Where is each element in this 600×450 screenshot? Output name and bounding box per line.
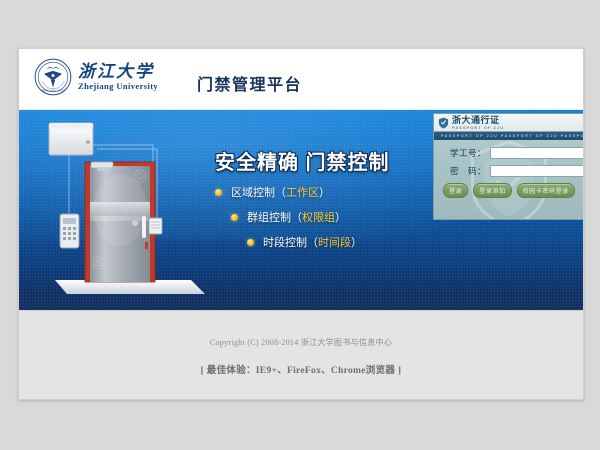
login-button-row: 登录 登录添加 校园卡密码登录 (442, 183, 576, 198)
password-row: 密 码： (442, 165, 576, 177)
logo-text-cn: 浙江大学 (78, 63, 158, 80)
login-form: 学工号： 密 码： 登录 登录添加 校园卡密码登录 (434, 140, 583, 198)
bullet-icon (215, 189, 222, 196)
login-add-button[interactable]: 登录添加 (473, 183, 511, 198)
staff-id-label: 学工号： (442, 147, 490, 159)
staff-id-row: 学工号： (442, 147, 576, 159)
page-title: 门禁管理平台 (197, 71, 302, 95)
feature-text: 区域控制（ (231, 184, 286, 200)
feature-item-area: 区域控制（ 工作区 ） (215, 184, 415, 200)
page-card: ZHEJIANG UNIV 浙江大学 Zhejiang University 门… (18, 48, 584, 400)
footer-browser-note: [ 最佳体验：IE9+、FireFox、Chrome浏览器 ] (19, 348, 583, 376)
hero-banner: 安全精确 门禁控制 区域控制（ 工作区 ） 群组控制（ 权限组 ） 时段控制（ … (19, 110, 583, 310)
svg-text:ZHEJIANG UNIV: ZHEJIANG UNIV (41, 88, 66, 92)
login-panel-title-cn: 浙大通行证 (452, 116, 504, 125)
staff-id-field[interactable] (490, 147, 583, 159)
access-control-door-illustration (41, 118, 221, 303)
banner-copy: 安全精确 门禁控制 区域控制（ 工作区 ） 群组控制（ 权限组 ） 时段控制（ … (215, 146, 415, 250)
feature-tail: ） (319, 184, 330, 200)
feature-tail: ） (351, 234, 362, 250)
feature-accent: 时间段 (318, 234, 351, 250)
shield-icon (438, 117, 449, 129)
bullet-icon (231, 214, 238, 221)
feature-item-timeslot: 时段控制（ 时间段 ） (215, 234, 415, 250)
feature-text: 群组控制（ (247, 209, 302, 225)
card-reader (149, 218, 162, 234)
login-panel-titlebar: 浙大通行证 PASSPORT OF ZJU (434, 114, 583, 132)
site-logo[interactable]: ZHEJIANG UNIV 浙江大学 Zhejiang University (34, 58, 158, 96)
site-header: ZHEJIANG UNIV 浙江大学 Zhejiang University 门… (19, 49, 583, 110)
banner-heading: 安全精确 门禁控制 (215, 146, 415, 175)
password-label: 密 码： (442, 165, 490, 177)
feature-accent: 权限组 (302, 209, 335, 225)
controller-box (49, 123, 93, 155)
feature-item-group: 群组控制（ 权限组 ） (215, 209, 415, 225)
logo-text-en: Zhejiang University (78, 82, 158, 91)
login-panel: 浙大通行证 PASSPORT OF ZJU PASSPORT OF ZJU PA… (433, 113, 583, 220)
login-button[interactable]: 登录 (443, 183, 468, 198)
passport-strip-text: PASSPORT OF ZJU PASSPORT OF ZJU PASSPORT… (434, 134, 583, 138)
site-footer: Copyright (C) 2008-2014 浙江大学图书与信息中心 [ 最佳… (19, 310, 583, 400)
bullet-icon (247, 239, 254, 246)
footer-copyright: Copyright (C) 2008-2014 浙江大学图书与信息中心 (19, 311, 583, 348)
campus-card-login-button[interactable]: 校园卡密码登录 (517, 183, 575, 198)
login-panel-title-en: PASSPORT OF ZJU (452, 126, 504, 130)
zju-seal-icon: ZHEJIANG UNIV (34, 58, 72, 96)
passport-strip: PASSPORT OF ZJU PASSPORT OF ZJU PASSPORT… (434, 132, 583, 140)
password-field[interactable] (490, 165, 583, 177)
feature-text: 时段控制（ (263, 234, 318, 250)
feature-tail: ） (335, 209, 346, 225)
feature-accent: 工作区 (286, 184, 319, 200)
keypad-reader (60, 214, 79, 248)
logo-wordmark: 浙江大学 Zhejiang University (78, 63, 158, 91)
